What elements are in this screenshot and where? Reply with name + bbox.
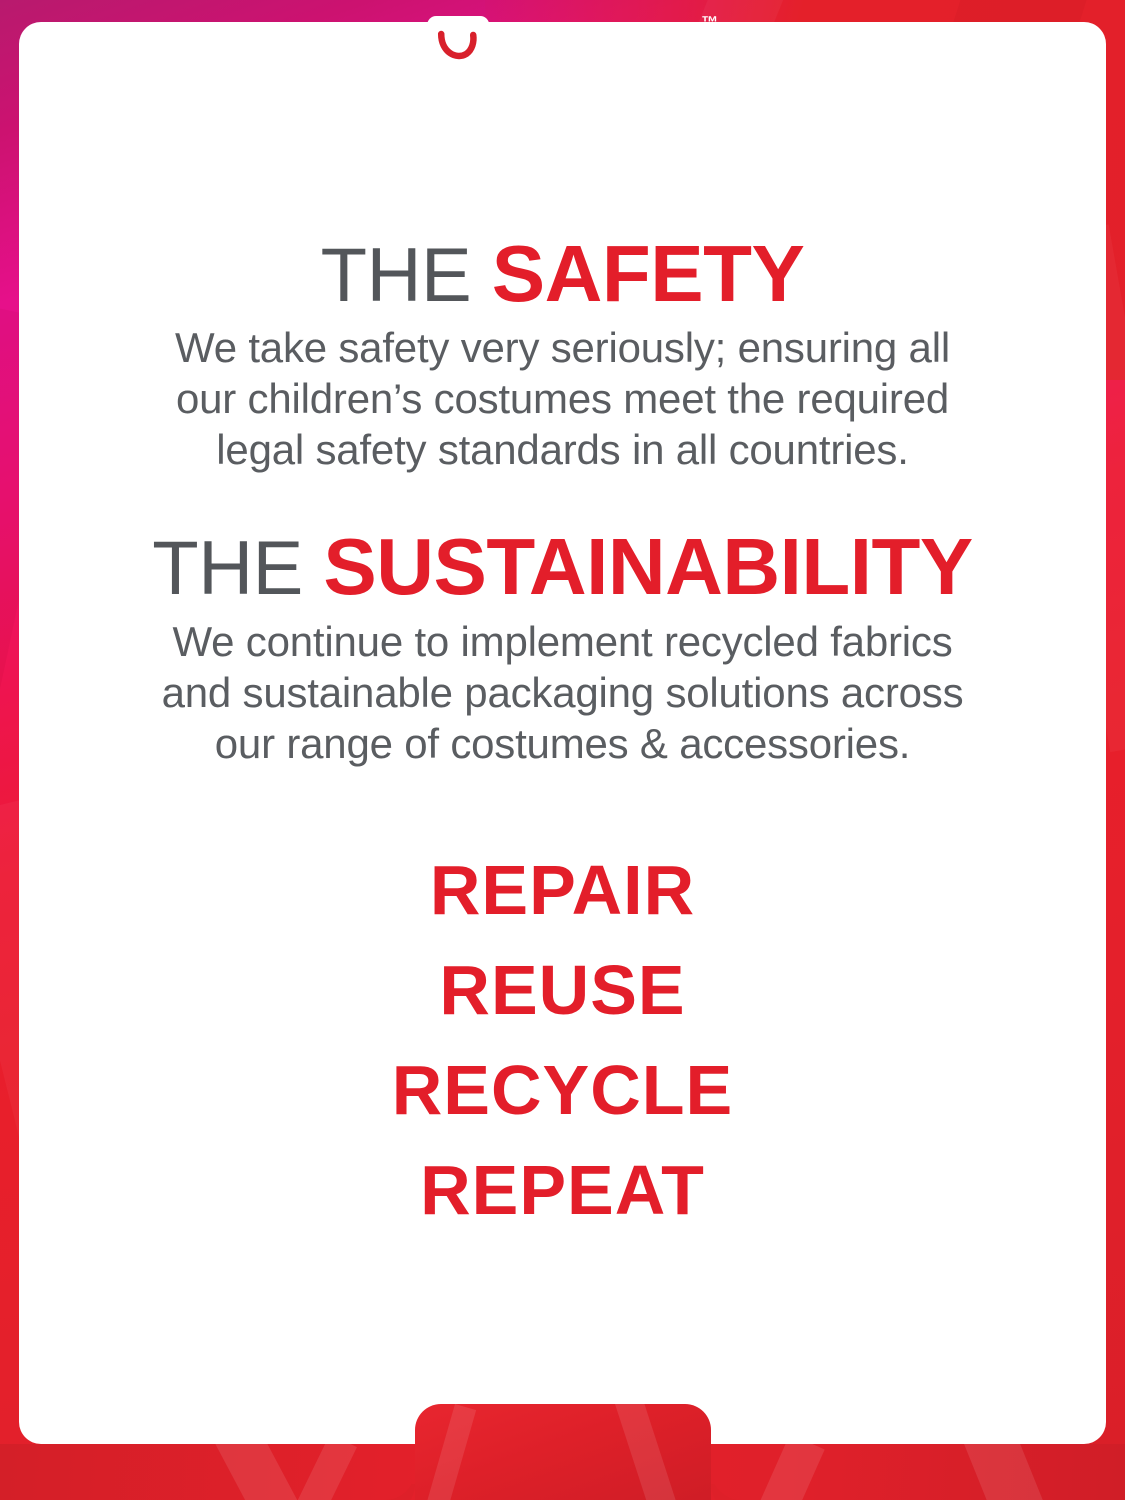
trademark-symbol: ™ (701, 14, 718, 31)
poster: THE SAFETY We take safety very seriously… (0, 0, 1125, 1500)
smiffys-logo[interactable]: smiffys™ (427, 16, 699, 78)
safety-heading: THE SAFETY (19, 234, 1106, 314)
sustainability-heading-prefix: THE (152, 526, 303, 611)
logo-wordmark-text: smiffys (499, 13, 699, 80)
principles-list: REPAIR REUSE RECYCLE REPEAT (19, 840, 1106, 1240)
principle-item: REUSE (19, 940, 1106, 1040)
logo-tab (415, 1404, 711, 1500)
content-card: THE SAFETY We take safety very seriously… (19, 22, 1106, 1444)
sustainability-heading: THE SUSTAINABILITY (19, 527, 1106, 607)
smile-icon (427, 16, 489, 78)
principle-item: REPAIR (19, 840, 1106, 940)
safety-heading-prefix: THE (321, 233, 472, 318)
principle-item: RECYCLE (19, 1040, 1106, 1140)
sustainability-heading-emphasis: SUSTAINABILITY (323, 522, 972, 611)
principle-item: REPEAT (19, 1140, 1106, 1240)
safety-heading-emphasis: SAFETY (492, 229, 805, 318)
sustainability-body-text: We continue to implement recycled fabric… (153, 616, 973, 769)
safety-body-text: We take safety very seriously; ensuring … (143, 322, 983, 475)
logo-wordmark: smiffys™ (499, 16, 699, 78)
